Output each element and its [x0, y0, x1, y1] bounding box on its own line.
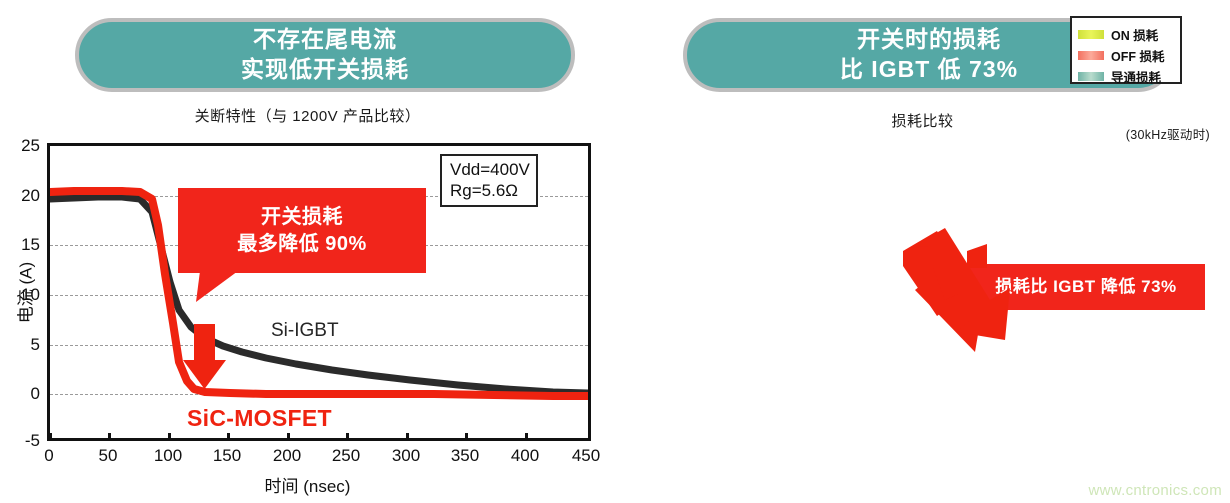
ytick-w120: [615, 136, 1230, 156]
left-y-axis-title: 电流 (A): [12, 253, 37, 333]
xtick-mark-150: [227, 433, 230, 441]
left-callout: 开关损耗 最多降低 90%: [178, 188, 426, 273]
legend-item-cond: 导通损耗: [1078, 67, 1172, 86]
right-panel: 开关时的损耗 比 IGBT 低 73% 损耗比较 (30kHz驱动时): [615, 0, 1230, 503]
right-chart-legend: ON 损耗 OFF 损耗 导通损耗: [1070, 16, 1182, 84]
legend-label-off: OFF 损耗: [1111, 46, 1164, 65]
xtick-250: 250: [332, 446, 360, 466]
watermark: www.cntronics.com: [1089, 482, 1222, 499]
ytick-5: 5: [0, 335, 40, 355]
legend-item-on: ON 损耗: [1078, 25, 1172, 44]
ytick-20: 20: [0, 186, 40, 206]
legend-swatch-on: [1078, 30, 1104, 39]
param-rg: Rg=5.6Ω: [450, 180, 528, 201]
xtick-150: 150: [213, 446, 241, 466]
left-title-line-1: 不存在尾电流: [241, 25, 409, 55]
xtick-mark-250: [346, 433, 349, 441]
xtick-mark-100: [168, 433, 171, 441]
xtick-200: 200: [273, 446, 301, 466]
gridline-y5: [50, 345, 588, 346]
left-title-line-2: 实现低开关损耗: [241, 55, 409, 85]
right-callout-text: 损耗比 IGBT 降低 73%: [995, 276, 1176, 298]
gridline-y10: [50, 295, 588, 296]
xtick-100: 100: [154, 446, 182, 466]
xtick-300: 300: [392, 446, 420, 466]
xtick-mark-200: [287, 433, 290, 441]
xtick-mark-350: [465, 433, 468, 441]
xtick-0: 0: [44, 446, 53, 466]
xtick-350: 350: [451, 446, 479, 466]
gridline-y0: [50, 394, 588, 395]
right-callout: 损耗比 IGBT 降低 73%: [967, 264, 1205, 310]
ytick-0: 0: [0, 384, 40, 404]
left-title-pill: 不存在尾电流 实现低开关损耗: [75, 18, 575, 92]
left-panel: 不存在尾电流 实现低开关损耗 关断特性（与 1200V 产品比较） 25 20 …: [0, 0, 615, 503]
right-title-line-1: 开关时的损耗: [840, 25, 1018, 55]
legend-item-off: OFF 损耗: [1078, 46, 1172, 65]
legend-swatch-cond: [1078, 72, 1104, 81]
right-y-axis-title: 损耗(W): [1226, 253, 1230, 333]
curve-label-sic-mosfet: SiC-MOSFET: [187, 405, 332, 432]
left-subtitle: 关断特性（与 1200V 产品比较）: [0, 105, 615, 126]
legend-label-cond: 导通损耗: [1111, 67, 1161, 86]
xtick-mark-50: [108, 433, 111, 441]
param-vdd: Vdd=400V: [450, 159, 528, 180]
parameter-box: Vdd=400V Rg=5.6Ω: [440, 154, 538, 207]
xtick-mark-300: [406, 433, 409, 441]
xtick-50: 50: [99, 446, 118, 466]
ytick-25: 25: [0, 136, 40, 156]
legend-label-on: ON 损耗: [1111, 25, 1158, 44]
left-callout-line-1: 开关损耗: [261, 204, 343, 230]
xtick-400: 400: [511, 446, 539, 466]
curve-label-si-igbt: Si-IGBT: [271, 320, 339, 342]
left-callout-line-2: 最多降低 90%: [237, 231, 367, 257]
legend-swatch-off: [1078, 51, 1104, 60]
ytick-minus5: -5: [0, 431, 40, 451]
right-title-line-2: 比 IGBT 低 73%: [840, 55, 1018, 85]
left-x-axis-title: 时间 (nsec): [0, 472, 615, 497]
xtick-450: 450: [572, 446, 600, 466]
xtick-mark-400: [525, 433, 528, 441]
xtick-mark-0: [49, 433, 52, 441]
